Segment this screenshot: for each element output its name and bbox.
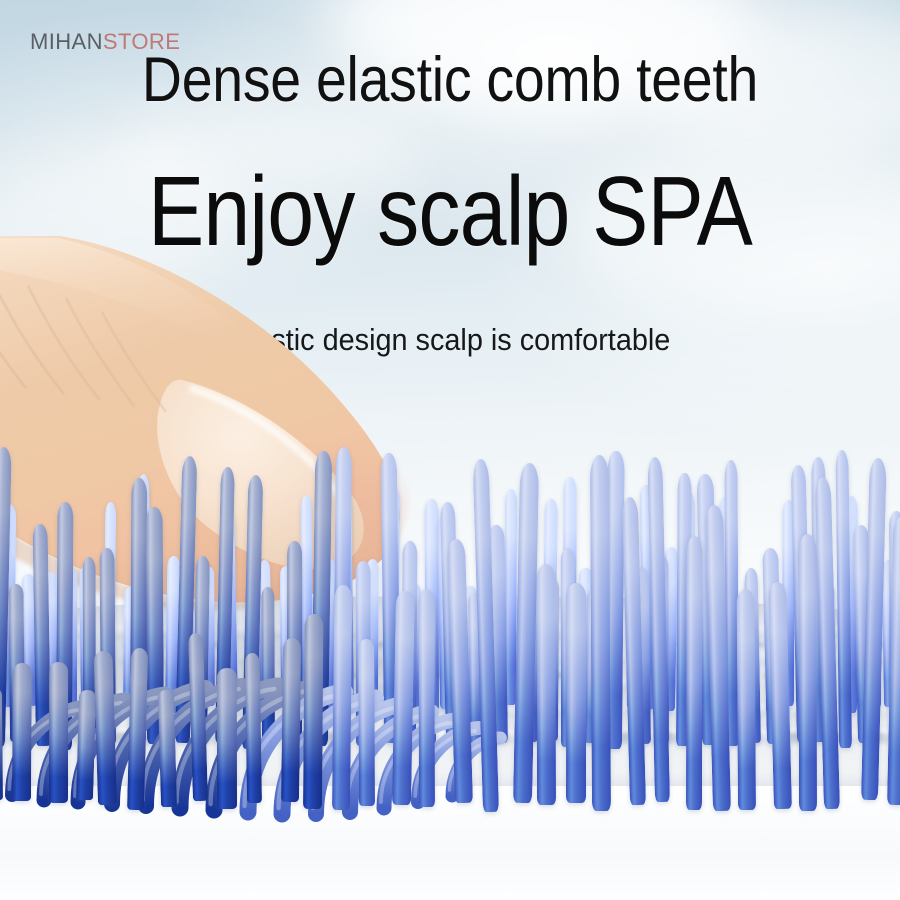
comb-bristle <box>76 690 96 801</box>
bristle-row-front <box>0 0 900 900</box>
comb-bristle <box>358 639 374 806</box>
comb-bristle-body <box>76 690 96 801</box>
comb-bristle-body <box>358 639 374 806</box>
comb-bristle-body <box>392 591 415 805</box>
comb-bristle <box>392 591 415 805</box>
comb-bristle <box>736 589 756 810</box>
comb-bristle <box>686 536 703 810</box>
comb-bristle <box>473 459 499 812</box>
comb-bristle-body <box>686 536 703 810</box>
comb-bristle-body <box>648 457 671 803</box>
comb-bristle <box>622 497 646 805</box>
comb-bristle <box>418 589 435 807</box>
comb-bristle-body <box>566 583 586 803</box>
comb-bristle-body <box>736 589 756 810</box>
comb-bristle <box>158 690 177 807</box>
comb-bristle <box>303 614 324 809</box>
comb-bristle-body <box>768 582 792 810</box>
comb-bristle-body <box>705 505 731 811</box>
comb-bristle <box>861 458 887 801</box>
promo-image: MIHANSTORE Dense elastic comb teeth Enjo… <box>0 0 900 900</box>
comb-bristle <box>0 688 3 800</box>
comb-bristle-body <box>447 538 473 803</box>
comb-bristle <box>49 662 68 803</box>
comb-bristle-body <box>622 497 646 805</box>
comb-bristle-body <box>245 652 263 802</box>
comb-bristle <box>768 582 792 810</box>
comb-bristle-body <box>94 650 117 804</box>
comb-bristle <box>332 585 352 810</box>
comb-bristle-body <box>861 458 887 801</box>
comb-bristle <box>447 538 473 803</box>
comb-bristle <box>281 638 301 802</box>
comb-bristle-body <box>303 614 324 809</box>
comb-bristle <box>590 455 612 811</box>
comb-bristle-body <box>188 632 208 800</box>
comb-bristle-body <box>127 648 149 810</box>
comb-bristle-body <box>0 688 3 800</box>
comb-bristle <box>217 668 237 809</box>
comb-bristle-body <box>590 455 612 811</box>
comb-bristle <box>12 663 32 801</box>
comb-bristle <box>814 477 840 809</box>
comb-bristle-body <box>12 663 32 801</box>
comb-bristle-body <box>536 564 555 805</box>
comb-bristle <box>566 583 586 803</box>
comb-bristle <box>245 652 263 802</box>
comb-bristle-body <box>217 668 237 809</box>
comb-bristle <box>887 516 900 805</box>
comb-bristle-body <box>418 589 435 807</box>
comb-bristle <box>127 648 149 810</box>
comb-bristle <box>648 457 671 803</box>
comb-bristle-body <box>473 459 499 812</box>
comb-bristle <box>705 505 731 811</box>
comb-bristle-body <box>513 463 539 803</box>
comb-bristle <box>536 564 555 805</box>
comb-bristle-body <box>798 534 817 811</box>
comb-bristle-body <box>887 516 900 805</box>
comb-bristle-body <box>814 477 840 809</box>
comb-bristle-body <box>281 638 301 802</box>
comb-bristle-body <box>49 662 68 803</box>
comb-bristle-body <box>158 690 177 807</box>
comb-bristle <box>188 632 208 800</box>
comb-bristle <box>513 463 539 803</box>
comb-bristle-body <box>332 585 352 810</box>
comb-bristle <box>94 650 117 804</box>
comb-bristle <box>798 534 817 811</box>
